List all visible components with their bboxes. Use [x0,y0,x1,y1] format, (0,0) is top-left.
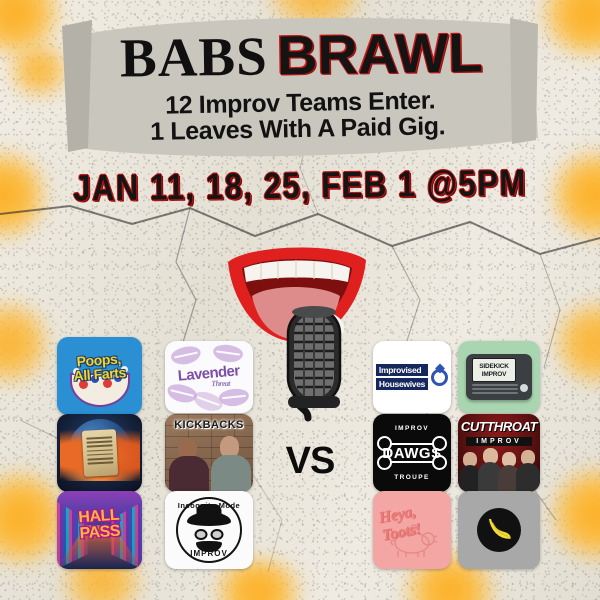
team-name-line-2: IMPROV [482,371,506,378]
team-name-heya-toots: Heya, Toots! [377,497,451,546]
banana-icon [479,509,518,551]
sidekick-screen: SIDEKICK IMPROV [472,358,516,382]
team-name-line-1: Improvised [376,364,428,376]
headline-banner: BABS BRAWL 12 Improv Teams Enter. 1 Leav… [62,12,538,164]
lip-print-icon [170,344,203,367]
housewives-name-bars: Improvised Housewives [376,364,428,390]
team-name-line-2: Housewives [376,378,428,390]
performer-body [211,455,251,492]
glow-blob-top-left-2 [8,44,70,96]
team-name-top: IMPROV [377,425,447,432]
performer-body [169,456,209,492]
scroll-document-icon [81,429,117,477]
fedora-hat-icon [187,512,231,526]
team-tile-banana[interactable] [458,491,540,569]
lip-print-icon [212,343,244,364]
team-tile-cutthroat-improv[interactable]: CUTTHROAT IMPROV [458,414,540,492]
sunglasses-icon [195,529,224,540]
team-name-line-1: SIDEKICK [479,363,508,370]
team-tile-kickbacks[interactable]: KICKBACKS [165,414,253,492]
versus-label: VS [268,440,352,483]
lip-print-icon [191,388,225,413]
team-name-line-1: CUTTHROAT [461,419,537,434]
diamond-ring-icon [431,369,448,386]
sidekick-keyboard [472,382,518,396]
team-name-bottom: TROUPE [377,474,447,481]
team-name-line-2: IMPROV [466,437,532,446]
team-tile-heya-toots[interactable]: Heya, Toots! [373,491,451,569]
team-name-line-2: All Farts [73,364,126,384]
team-tile-sidekick-improv[interactable]: SIDEKICK IMPROV [458,341,540,413]
subtitle-line-2: 1 Leaves With A Paid Gig. [150,113,445,145]
team-tile-hall-pass[interactable]: HALL PASS [57,491,142,569]
cutthroat-title-block: CUTTHROAT IMPROV [458,418,540,446]
poster-dateline: JAN 11, 18, 25, FEB 1 @5PM [0,161,600,211]
team-tile-improvised-housewives[interactable]: Improvised Housewives [373,341,451,413]
title-word-brawl: BRAWL [276,25,482,83]
team-name-line-2: Threat [201,379,241,389]
team-tile-dawgs[interactable]: IMPROV DAWGS TROUPE [373,414,451,492]
retro-microphone-icon [278,300,350,430]
performer-body [516,463,540,492]
performer-left [169,438,209,492]
sidekick-trackball [520,384,528,392]
team-name-line-2: IMPROV [190,549,228,558]
team-name-hall-pass: HALL PASS [78,508,121,542]
team-tile-poops-all-farts[interactable]: Poops, All Farts [57,337,142,415]
sidekick-phone-icon: SIDEKICK IMPROV [466,354,532,400]
team-tile-space-scroll[interactable] [57,414,142,492]
poster-title: BABS BRAWL [119,25,480,85]
housewives-logo: Improvised Housewives [376,364,448,390]
title-word-babs: BABS [119,28,267,85]
performer-4 [516,450,540,492]
dog-bone-icon: IMPROV DAWGS TROUPE [377,436,447,470]
team-name-lavender-threat: Lavender Threat [177,362,241,391]
poster-subtitle: 12 Improv Teams Enter. 1 Leaves With A P… [155,87,445,145]
banana-badge [477,508,521,552]
team-tile-incognito-mode-improv[interactable]: Incognito Mode IMPROV [165,491,253,569]
team-name-line-1: DAWGS [382,445,441,462]
lip-print-icon [218,387,250,407]
team-name-line-2: PASS [79,523,120,543]
scroll-text-lines [86,436,113,464]
poster-root: BABS BRAWL 12 Improv Teams Enter. 1 Leav… [0,0,600,600]
disguise-hat-glasses-mustache-icon: Incognito Mode IMPROV [176,497,242,563]
performer-right [209,436,251,492]
team-name-kickbacks: KICKBACKS [165,419,253,431]
team-tile-lavender-threat[interactable]: Lavender Threat [165,341,253,413]
team-name-poops-all-farts: Poops, All Farts [72,351,126,383]
